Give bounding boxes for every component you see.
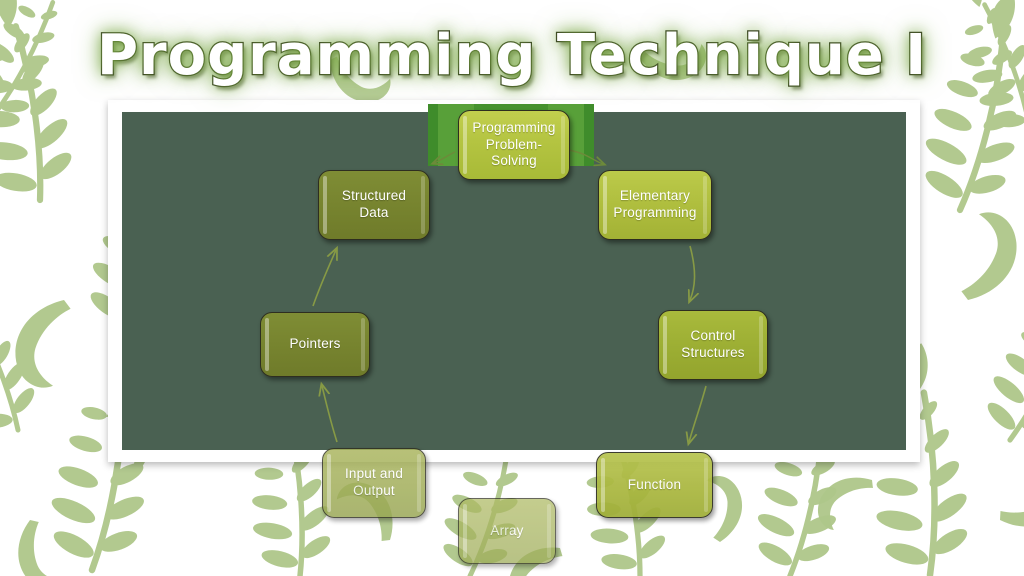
node-input-and-output[interactable]: Input and Output <box>322 448 426 518</box>
node-function[interactable]: Function <box>596 452 713 518</box>
node-pointers[interactable]: Pointers <box>260 312 370 377</box>
node-array[interactable]: Array <box>458 498 556 564</box>
node-label: Array <box>490 523 523 540</box>
node-programming-problem-solving[interactable]: Programming Problem- Solving <box>458 110 570 180</box>
node-control-structures[interactable]: Control Structures <box>658 310 768 380</box>
node-label: Control Structures <box>681 328 745 361</box>
node-elementary-programming[interactable]: Elementary Programming <box>598 170 712 240</box>
node-label: Input and Output <box>345 466 403 499</box>
slide-canvas: Programming Problem- Solving Structured … <box>0 0 1024 576</box>
node-label: Programming Problem- Solving <box>472 120 555 170</box>
node-label: Structured Data <box>342 188 406 221</box>
node-label: Pointers <box>289 336 340 353</box>
node-structured-data[interactable]: Structured Data <box>318 170 430 240</box>
node-label: Function <box>628 477 681 494</box>
title-area: Programming Technique I <box>0 16 1024 94</box>
slide-title: Programming Technique I <box>97 23 927 88</box>
node-label: Elementary Programming <box>613 188 696 221</box>
